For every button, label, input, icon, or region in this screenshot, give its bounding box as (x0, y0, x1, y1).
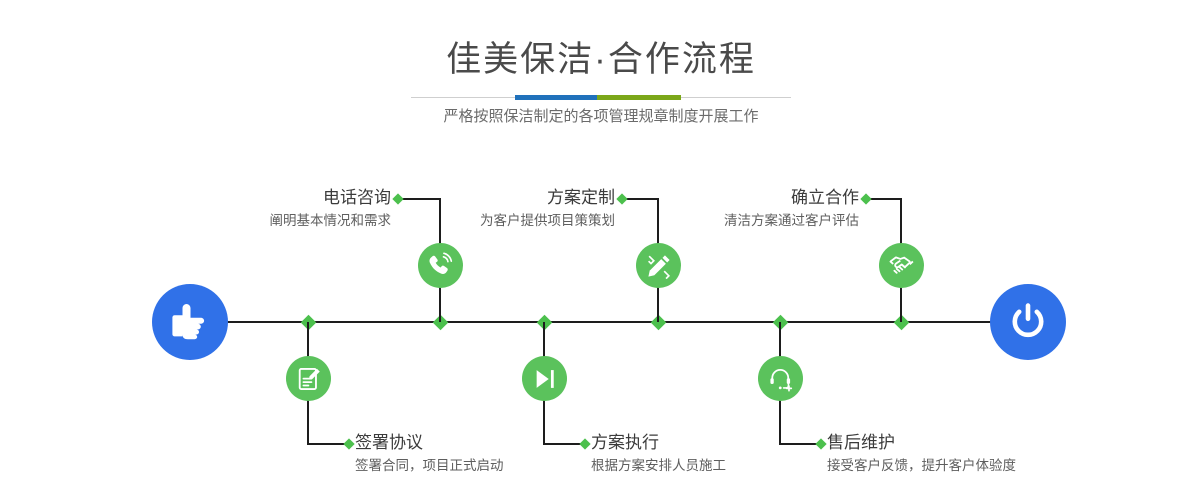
step-label-5: 确立合作 清洁方案通过客户评估 (0, 186, 859, 231)
step-desc-2: 签署合同，项目正式启动 (355, 455, 504, 476)
pointing-hand-icon (168, 302, 212, 342)
step-desc-4: 根据方案安排人员施工 (591, 455, 726, 476)
step-title-4: 方案执行 (591, 431, 726, 455)
branch-tip-6 (815, 438, 826, 449)
timeline: 电话咨询 阐明基本情况和需求 签署协议 签署合同，项目正式启动 (0, 0, 1202, 502)
step-icon-node-4 (522, 356, 567, 401)
step-icon-node-1 (418, 243, 463, 288)
flow-end-node (990, 284, 1066, 360)
flow-start-node (152, 284, 228, 360)
headset-support-icon (768, 366, 794, 392)
branch-tip-2 (343, 438, 354, 449)
step-desc-5: 清洁方案通过客户评估 (0, 210, 859, 231)
step-title-6: 售后维护 (827, 431, 1016, 455)
step-icon-node-6 (758, 356, 803, 401)
document-pen-icon (296, 366, 322, 392)
pencil-ruler-icon (646, 253, 672, 279)
handshake-icon (888, 252, 915, 279)
phone-call-icon (427, 252, 454, 279)
branch-tip-4 (579, 438, 590, 449)
step-desc-6: 接受客户反馈，提升客户体验度 (827, 455, 1016, 476)
step-label-2: 签署协议 签署合同，项目正式启动 (355, 431, 504, 476)
step-icon-node-5 (879, 243, 924, 288)
step-title-2: 签署协议 (355, 431, 504, 455)
process-flow-infographic: 佳美保洁·合作流程 严格按照保洁制定的各项管理规章制度开展工作 (0, 0, 1202, 502)
play-execute-icon (532, 366, 558, 392)
step-title-5: 确立合作 (0, 186, 859, 210)
step-icon-node-3 (636, 243, 681, 288)
step-label-6: 售后维护 接受客户反馈，提升客户体验度 (827, 431, 1016, 476)
step-icon-node-2 (286, 356, 331, 401)
branch-tip-5 (860, 193, 871, 204)
step-label-4: 方案执行 根据方案安排人员施工 (591, 431, 726, 476)
power-icon (1006, 300, 1050, 344)
